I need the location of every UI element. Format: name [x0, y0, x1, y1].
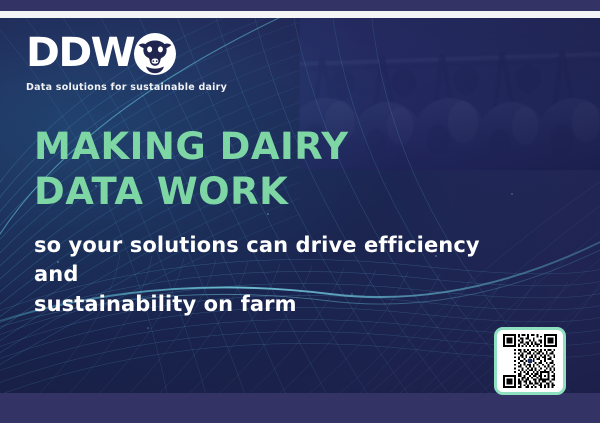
qr-code-icon	[501, 334, 559, 388]
ddw-logo[interactable]: DDW	[26, 30, 227, 93]
bottom-navy-strip	[0, 393, 600, 423]
subheadline: so your solutions can drive efficiency a…	[34, 231, 504, 319]
qr-code[interactable]	[494, 327, 566, 395]
logo-lockup: DDW	[26, 30, 227, 76]
logo-tagline: Data solutions for sustainable dairy	[26, 82, 227, 93]
headline: MAKING DAIRY DATA WORK	[34, 124, 348, 214]
globe-cow-icon	[133, 32, 177, 76]
promotional-banner: DDW	[0, 0, 600, 423]
top-navy-strip	[0, 0, 600, 11]
logo-wordmark: DDW	[26, 33, 134, 73]
white-divider-rule	[0, 11, 600, 18]
